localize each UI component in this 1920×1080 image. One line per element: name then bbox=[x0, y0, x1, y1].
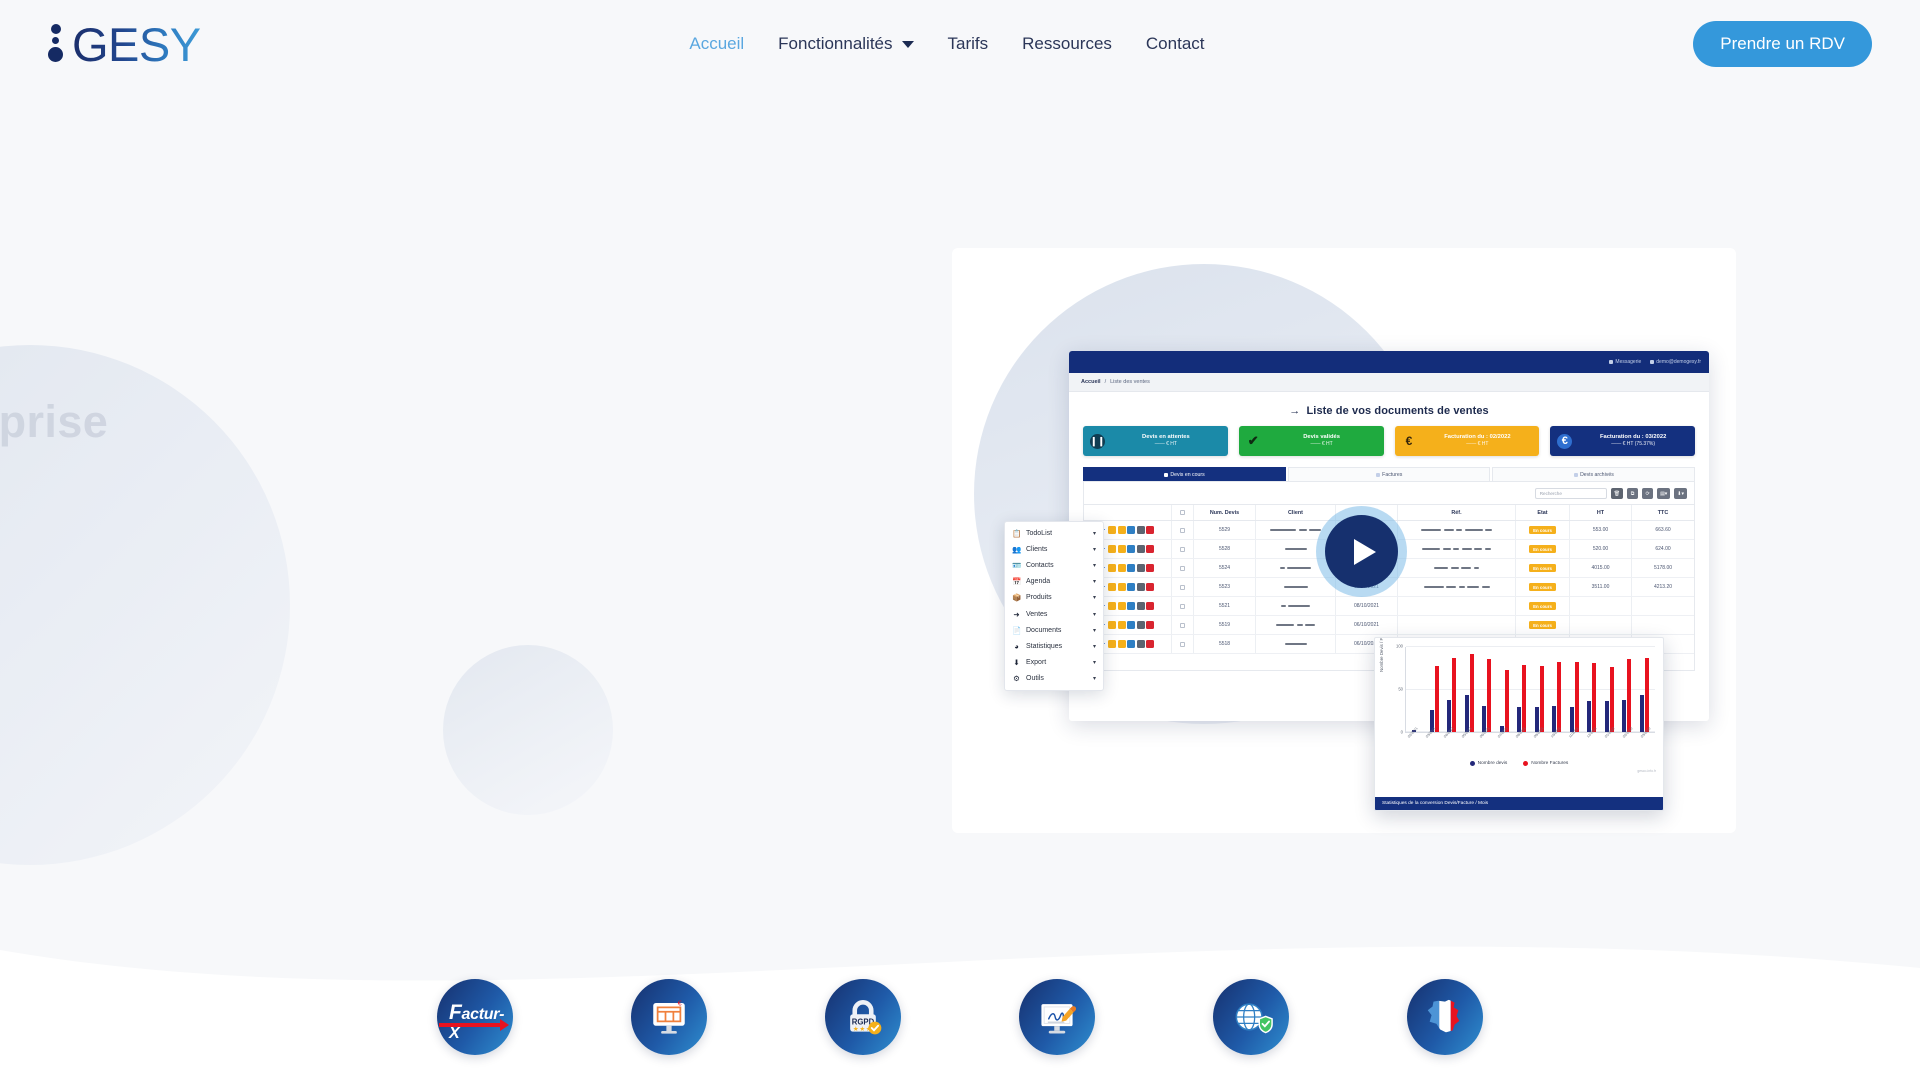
cell-date: 08/10/2021 bbox=[1336, 597, 1398, 615]
cell-num-devis: 5529 bbox=[1194, 521, 1256, 539]
pdf-icon bbox=[1137, 583, 1145, 591]
side-menu-item-label: Contacts bbox=[1026, 562, 1054, 569]
trust-badge-row: Factur-X € RGPD bbox=[0, 962, 1920, 1072]
contact-card-icon: 🪪 bbox=[1012, 561, 1021, 570]
row-checkbox[interactable] bbox=[1180, 604, 1185, 609]
row-checkbox-cell[interactable] bbox=[1172, 578, 1194, 596]
chart-bar bbox=[1470, 654, 1474, 732]
nav-item-fonctionnalites[interactable]: Fonctionnalités bbox=[778, 34, 913, 54]
edit-icon bbox=[1118, 583, 1126, 591]
table-toolbar: Recherche 🗑 ⧉ ⟳ ▤▾ ⬇▾ bbox=[1084, 482, 1694, 504]
table-header-row: Num. Devis Client Réf. Etat HT TTC bbox=[1084, 504, 1694, 521]
cell-ttc: 624.00 bbox=[1632, 540, 1694, 558]
edit-icon bbox=[1118, 526, 1126, 534]
svg-text:€: € bbox=[678, 1001, 682, 1008]
cell-client bbox=[1256, 635, 1336, 653]
cell-ref bbox=[1398, 578, 1516, 596]
column-select bbox=[1172, 505, 1194, 520]
nav-item-accueil[interactable]: Accueil bbox=[689, 34, 744, 54]
badge-factur-x[interactable]: Factur-X bbox=[437, 979, 513, 1055]
nav-item-tarifs-label: Tarifs bbox=[948, 34, 989, 54]
row-checkbox[interactable] bbox=[1180, 623, 1185, 628]
chevron-down-icon: ▾ bbox=[1093, 578, 1096, 585]
cell-ttc: 4213.20 bbox=[1632, 578, 1694, 596]
arrow-right-icon: → bbox=[1289, 405, 1300, 417]
delete-icon bbox=[1146, 564, 1154, 572]
legend-item-devis: Nombre devis bbox=[1470, 761, 1508, 766]
kpi-card-devis-attente[interactable]: ❙❙ Devis en attentes —— € HT bbox=[1083, 426, 1228, 456]
cell-ht bbox=[1570, 616, 1632, 634]
app-side-menu: 📋TodoList▾👥Clients▾🪪Contacts▾📅Agenda▾📦Pr… bbox=[1004, 521, 1104, 691]
video-play-button[interactable] bbox=[1325, 515, 1398, 588]
app-topbar: Messagerie demo@demogesy.fr bbox=[1069, 351, 1709, 373]
pdf-icon bbox=[1137, 621, 1145, 629]
chart-bar-group bbox=[1447, 647, 1456, 732]
chart-bar-group bbox=[1412, 647, 1421, 732]
columns-button[interactable]: ▤▾ bbox=[1657, 488, 1670, 499]
side-menu-item-label: Statistiques bbox=[1026, 643, 1062, 650]
landing-page: ntreprise GESY Accueil Fonctionnalités T… bbox=[0, 0, 1920, 1080]
side-menu-item-label: Export bbox=[1026, 659, 1046, 666]
row-checkbox-cell[interactable] bbox=[1172, 597, 1194, 615]
cell-num-devis: 5523 bbox=[1194, 578, 1256, 596]
chart-bar-group bbox=[1622, 647, 1631, 732]
status-badge: En cours bbox=[1529, 545, 1556, 553]
cell-ref bbox=[1398, 559, 1516, 577]
kpi-title: Facturation du : 02/2022 bbox=[1423, 434, 1533, 441]
side-menu-item-agenda[interactable]: 📅Agenda▾ bbox=[1005, 574, 1103, 590]
row-checkbox-cell[interactable] bbox=[1172, 540, 1194, 558]
chevron-down-icon: ▾ bbox=[1093, 530, 1096, 537]
kpi-value: —— € HT (75.37%) bbox=[1578, 441, 1688, 447]
calendar-icon: 📅 bbox=[1012, 577, 1021, 586]
chart-y-tick: 50 bbox=[1398, 687, 1403, 692]
side-menu-item-export[interactable]: ⬇Export▾ bbox=[1005, 655, 1103, 671]
kpi-value: —— € HT bbox=[1423, 441, 1533, 447]
duplicate-icon bbox=[1127, 583, 1135, 591]
delete-button[interactable]: 🗑 bbox=[1611, 488, 1623, 499]
tab-label: Devis en cours bbox=[1170, 472, 1204, 478]
kpi-card-devis-valides[interactable]: ✔ Devis validés —— € HT bbox=[1239, 426, 1384, 456]
delete-icon bbox=[1146, 640, 1154, 648]
badge-hebergement-securise[interactable] bbox=[1213, 979, 1289, 1055]
cell-ttc bbox=[1632, 616, 1694, 634]
legend-item-factures: Nombre Factures bbox=[1523, 761, 1568, 766]
view-icon bbox=[1108, 583, 1116, 591]
chart-bar bbox=[1435, 666, 1439, 732]
cell-client bbox=[1256, 521, 1336, 539]
chart-y-axis-label: Nombre Devis / Facture bbox=[1379, 637, 1384, 672]
cell-ref bbox=[1398, 597, 1516, 615]
brand-name: GESY bbox=[72, 21, 201, 68]
app-tab-bar: Devis en cours Factures Devis archivés bbox=[1069, 467, 1709, 481]
factur-x-icon: Factur-X bbox=[443, 997, 507, 1037]
box-icon: 📦 bbox=[1012, 593, 1021, 602]
side-menu-item-label: Ventes bbox=[1026, 611, 1047, 618]
side-menu-item-clients[interactable]: 👥Clients▾ bbox=[1005, 541, 1103, 557]
check-icon: ✔ bbox=[1246, 434, 1261, 449]
tools-icon: ⚙ bbox=[1012, 674, 1021, 683]
chart-bar bbox=[1627, 659, 1631, 732]
chart-bar bbox=[1575, 662, 1579, 732]
table-row[interactable]: +552108/10/2021En cours bbox=[1084, 597, 1694, 616]
legend-swatch bbox=[1523, 761, 1528, 766]
chevron-down-icon bbox=[902, 41, 914, 48]
row-checkbox[interactable] bbox=[1180, 547, 1185, 552]
view-icon bbox=[1108, 602, 1116, 610]
side-menu-item-contacts[interactable]: 🪪Contacts▾ bbox=[1005, 557, 1103, 573]
badge-signature-electronique[interactable] bbox=[1019, 979, 1095, 1055]
view-icon bbox=[1108, 640, 1116, 648]
file-icon bbox=[1164, 473, 1168, 477]
status-badge: En cours bbox=[1529, 583, 1556, 591]
cell-etat: En cours bbox=[1516, 559, 1570, 577]
esignature-icon bbox=[1035, 995, 1079, 1039]
cell-etat: En cours bbox=[1516, 578, 1570, 596]
side-menu-item-label: Documents bbox=[1026, 627, 1061, 634]
cell-ttc: 663.60 bbox=[1632, 521, 1694, 539]
side-menu-item-label: Agenda bbox=[1026, 578, 1050, 585]
delete-icon bbox=[1146, 621, 1154, 629]
chart-legend: Nombre devis Nombre Factures bbox=[1375, 761, 1663, 766]
euro-icon: € bbox=[1402, 434, 1417, 449]
pause-icon: ❙❙ bbox=[1090, 434, 1105, 449]
chevron-down-icon: ▾ bbox=[1093, 627, 1096, 634]
chart-bar-group bbox=[1430, 647, 1439, 732]
cell-ht: 3511.00 bbox=[1570, 578, 1632, 596]
breadcrumb-current: Liste des ventes bbox=[1110, 379, 1150, 385]
chart-watermark: gesco-info.fr bbox=[1637, 769, 1656, 773]
kpi-card-facturation-03[interactable]: € Facturation du : 03/2022 —— € HT (75.3… bbox=[1550, 426, 1695, 456]
chart-pie-icon: ◕ bbox=[1012, 642, 1021, 651]
nav-item-fonctionnalites-label: Fonctionnalités bbox=[778, 34, 892, 54]
arrow-right-icon: ➜ bbox=[1012, 610, 1021, 619]
pdf-icon bbox=[1137, 526, 1145, 534]
side-menu-item-label: TodoList bbox=[1026, 530, 1052, 537]
duplicate-icon bbox=[1127, 564, 1135, 572]
file-icon bbox=[1376, 473, 1380, 477]
cell-ref bbox=[1398, 616, 1516, 634]
chart-bar bbox=[1605, 701, 1609, 732]
table-row[interactable]: +552311/10/2021En cours3511.004213.20 bbox=[1084, 578, 1694, 597]
chart-bar bbox=[1557, 662, 1561, 732]
chart-bar-group bbox=[1640, 647, 1649, 732]
tab-factures[interactable]: Factures bbox=[1288, 467, 1491, 481]
badge-rgpd[interactable]: RGPD ★★★ bbox=[825, 979, 901, 1055]
duplicate-icon bbox=[1127, 602, 1135, 610]
chart-bar bbox=[1645, 658, 1649, 732]
cell-ht: 520.00 bbox=[1570, 540, 1632, 558]
edit-icon bbox=[1118, 640, 1126, 648]
column-num-devis[interactable]: Num. Devis bbox=[1194, 505, 1256, 520]
chart-bar bbox=[1570, 707, 1574, 733]
side-menu-item-label: Outils bbox=[1026, 675, 1044, 682]
cell-client bbox=[1256, 559, 1336, 577]
row-checkbox-cell[interactable] bbox=[1172, 521, 1194, 539]
kpi-title: Facturation du : 03/2022 bbox=[1578, 434, 1688, 441]
chart-caption: Statistiques de la conversion Devis/Fact… bbox=[1375, 797, 1663, 810]
column-ref[interactable]: Réf. bbox=[1398, 505, 1516, 520]
chart-bar bbox=[1622, 700, 1626, 732]
nav-item-contact[interactable]: Contact bbox=[1146, 34, 1205, 54]
kpi-title: Devis validés bbox=[1267, 434, 1377, 441]
chart-bar-group bbox=[1517, 647, 1526, 732]
decorative-circle-large bbox=[0, 345, 290, 865]
row-checkbox[interactable] bbox=[1180, 528, 1185, 533]
invoice-monitor-icon: € bbox=[648, 996, 690, 1038]
tab-devis-en-cours[interactable]: Devis en cours bbox=[1083, 467, 1286, 481]
side-menu-item-documents[interactable]: 📄Documents▾ bbox=[1005, 622, 1103, 638]
chart-bar bbox=[1587, 701, 1591, 732]
edit-icon bbox=[1118, 545, 1126, 553]
cell-num-devis: 5521 bbox=[1194, 597, 1256, 615]
row-checkbox[interactable] bbox=[1180, 585, 1185, 590]
decorative-circle-small bbox=[443, 645, 613, 815]
main-navigation: Accueil Fonctionnalités Tarifs Ressource… bbox=[689, 34, 1204, 54]
euro-icon: € bbox=[1557, 434, 1572, 449]
france-map-icon bbox=[1422, 994, 1468, 1040]
column-actions bbox=[1084, 505, 1172, 520]
chart-plot-area: Nombre Devis / Facture 050100 02/202103/… bbox=[1375, 638, 1663, 777]
kpi-card-facturation-02[interactable]: € Facturation du : 02/2022 —— € HT bbox=[1395, 426, 1540, 456]
statistics-chart-card: Nombre Devis / Facture 050100 02/202103/… bbox=[1374, 637, 1664, 811]
row-checkbox[interactable] bbox=[1180, 642, 1185, 647]
chart-bar-group bbox=[1500, 647, 1509, 732]
svg-text:★: ★ bbox=[853, 1026, 859, 1033]
nav-item-ressources-label: Ressources bbox=[1022, 34, 1112, 54]
row-checkbox-cell[interactable] bbox=[1172, 559, 1194, 577]
table-row[interactable]: +551906/10/2021En cours bbox=[1084, 616, 1694, 635]
cell-client bbox=[1256, 578, 1336, 596]
app-page-title-text: Liste de vos documents de ventes bbox=[1306, 405, 1488, 417]
prendre-rdv-button[interactable]: Prendre un RDV bbox=[1693, 21, 1872, 67]
delete-icon bbox=[1146, 526, 1154, 534]
chevron-down-icon: ▾ bbox=[1093, 546, 1096, 553]
legend-swatch bbox=[1470, 761, 1475, 766]
column-ht[interactable]: HT bbox=[1570, 505, 1632, 520]
cell-etat: En cours bbox=[1516, 521, 1570, 539]
column-client[interactable]: Client bbox=[1256, 505, 1336, 520]
side-menu-item-todolist[interactable]: 📋TodoList▾ bbox=[1005, 525, 1103, 541]
side-menu-item-outils[interactable]: ⚙Outils▾ bbox=[1005, 671, 1103, 687]
nav-item-accueil-label: Accueil bbox=[689, 34, 744, 54]
clipboard-icon: 📋 bbox=[1012, 529, 1021, 538]
status-badge: En cours bbox=[1529, 621, 1556, 629]
app-messagerie-item[interactable]: Messagerie bbox=[1609, 359, 1641, 365]
svg-text:★: ★ bbox=[859, 1026, 865, 1033]
gesy-dots-logo-icon bbox=[48, 24, 63, 64]
edit-icon bbox=[1118, 621, 1126, 629]
pdf-icon bbox=[1137, 640, 1145, 648]
nav-item-tarifs[interactable]: Tarifs bbox=[948, 34, 989, 54]
copy-button[interactable]: ⧉ bbox=[1627, 488, 1638, 499]
cell-ref bbox=[1398, 521, 1516, 539]
kpi-value: —— € HT bbox=[1267, 441, 1377, 447]
cell-num-devis: 5524 bbox=[1194, 559, 1256, 577]
file-icon: 📄 bbox=[1012, 626, 1021, 635]
kpi-title: Devis en attentes bbox=[1111, 434, 1221, 441]
chart-bar-group bbox=[1465, 647, 1474, 732]
app-page-title: → Liste de vos documents de ventes bbox=[1069, 392, 1709, 426]
chevron-down-icon: ▾ bbox=[1093, 611, 1096, 618]
status-badge: En cours bbox=[1529, 526, 1556, 534]
site-header: GESY Accueil Fonctionnalités Tarifs Ress… bbox=[0, 0, 1920, 88]
side-menu-item-label: Produits bbox=[1026, 594, 1052, 601]
row-checkbox-cell[interactable] bbox=[1172, 616, 1194, 634]
chart-bar-group bbox=[1605, 647, 1614, 732]
download-icon: ⬇ bbox=[1012, 658, 1021, 667]
chart-bar bbox=[1522, 665, 1526, 732]
pdf-icon bbox=[1137, 545, 1145, 553]
refresh-button[interactable]: ⟳ bbox=[1642, 488, 1653, 499]
delete-icon bbox=[1146, 545, 1154, 553]
status-badge: En cours bbox=[1529, 602, 1556, 610]
chart-y-tick: 100 bbox=[1396, 644, 1403, 649]
cell-num-devis: 5518 bbox=[1194, 635, 1256, 653]
cell-ttc bbox=[1632, 597, 1694, 615]
badge-made-in-france[interactable] bbox=[1407, 979, 1483, 1055]
chart-bar bbox=[1535, 707, 1539, 733]
chart-bars bbox=[1406, 647, 1655, 732]
breadcrumb-separator: / bbox=[1105, 379, 1107, 385]
nav-item-ressources[interactable]: Ressources bbox=[1022, 34, 1112, 54]
column-ttc[interactable]: TTC bbox=[1632, 505, 1694, 520]
edit-icon bbox=[1118, 564, 1126, 572]
app-breadcrumb: Accueil / Liste des ventes bbox=[1069, 373, 1709, 392]
duplicate-icon bbox=[1127, 621, 1135, 629]
tab-label: Factures bbox=[1382, 472, 1402, 478]
duplicate-icon bbox=[1127, 640, 1135, 648]
cell-client bbox=[1256, 540, 1336, 558]
tab-devis-archives[interactable]: Devis archivés bbox=[1492, 467, 1695, 481]
chevron-down-icon: ▾ bbox=[1093, 675, 1096, 682]
side-menu-item-label: Clients bbox=[1026, 546, 1047, 553]
chevron-down-icon: ▾ bbox=[1093, 562, 1096, 569]
chevron-down-icon: ▾ bbox=[1093, 659, 1096, 666]
delete-icon bbox=[1146, 583, 1154, 591]
chart-bar-group bbox=[1570, 647, 1579, 732]
cell-client bbox=[1256, 597, 1336, 615]
tab-label: Devis archivés bbox=[1580, 472, 1614, 478]
export-button[interactable]: ⬇▾ bbox=[1674, 488, 1687, 499]
chart-bar bbox=[1640, 695, 1644, 732]
user-icon bbox=[1650, 360, 1654, 364]
envelope-icon bbox=[1609, 360, 1613, 364]
chart-bar-group bbox=[1482, 647, 1491, 732]
cell-date: 06/10/2021 bbox=[1336, 616, 1398, 634]
chart-bar-group bbox=[1552, 647, 1561, 732]
nav-item-contact-label: Contact bbox=[1146, 34, 1205, 54]
chart-plot: 050100 bbox=[1405, 647, 1655, 733]
chart-y-tick: 0 bbox=[1401, 730, 1403, 735]
view-icon bbox=[1108, 545, 1116, 553]
view-icon bbox=[1108, 564, 1116, 572]
badge-facturation-electronique[interactable]: € bbox=[631, 979, 707, 1055]
chart-bar-group bbox=[1535, 647, 1544, 732]
chart-bar-group bbox=[1587, 647, 1596, 732]
rgpd-lock-icon: RGPD ★★★ bbox=[841, 995, 885, 1039]
view-icon bbox=[1108, 526, 1116, 534]
cell-ttc: 5178.00 bbox=[1632, 559, 1694, 577]
side-menu-item-statistiques[interactable]: ◕Statistiques▾ bbox=[1005, 638, 1103, 654]
duplicate-icon bbox=[1127, 526, 1135, 534]
status-badge: En cours bbox=[1529, 564, 1556, 572]
duplicate-icon bbox=[1127, 545, 1135, 553]
chart-bar bbox=[1610, 667, 1614, 732]
view-icon bbox=[1108, 621, 1116, 629]
play-icon bbox=[1354, 539, 1376, 565]
cell-etat: En cours bbox=[1516, 597, 1570, 615]
cell-ref bbox=[1398, 540, 1516, 558]
chart-bar bbox=[1487, 659, 1491, 732]
brand-logo[interactable]: GESY bbox=[48, 21, 201, 68]
cell-num-devis: 5528 bbox=[1194, 540, 1256, 558]
row-checkbox-cell[interactable] bbox=[1172, 635, 1194, 653]
chart-bar bbox=[1592, 663, 1596, 732]
cell-client bbox=[1256, 616, 1336, 634]
breadcrumb-home[interactable]: Accueil bbox=[1081, 379, 1101, 385]
row-checkbox[interactable] bbox=[1180, 566, 1185, 571]
cell-num-devis: 5519 bbox=[1194, 616, 1256, 634]
side-menu-item-produits[interactable]: 📦Produits▾ bbox=[1005, 590, 1103, 606]
cell-ht bbox=[1570, 597, 1632, 615]
pdf-icon bbox=[1137, 564, 1145, 572]
app-account-item[interactable]: demo@demogesy.fr bbox=[1650, 359, 1701, 365]
search-input[interactable]: Recherche bbox=[1535, 488, 1607, 499]
secure-globe-icon bbox=[1229, 995, 1273, 1039]
chart-bar bbox=[1505, 670, 1509, 732]
cell-etat: En cours bbox=[1516, 540, 1570, 558]
column-etat[interactable]: Etat bbox=[1516, 505, 1570, 520]
kpi-card-row: ❙❙ Devis en attentes —— € HT ✔ Devis val… bbox=[1069, 426, 1709, 467]
chevron-down-icon: ▾ bbox=[1093, 643, 1096, 650]
users-icon: 👥 bbox=[1012, 545, 1021, 554]
cell-ht: 553.00 bbox=[1570, 521, 1632, 539]
pdf-icon bbox=[1137, 602, 1145, 610]
cell-ht: 4015.00 bbox=[1570, 559, 1632, 577]
chevron-down-icon: ▾ bbox=[1093, 594, 1096, 601]
hero-ghost-text: ntreprise bbox=[0, 396, 108, 448]
kpi-value: —— € HT bbox=[1111, 441, 1221, 447]
file-icon bbox=[1574, 473, 1578, 477]
edit-icon bbox=[1118, 602, 1126, 610]
select-all-checkbox[interactable] bbox=[1180, 510, 1185, 515]
cell-etat: En cours bbox=[1516, 616, 1570, 634]
chart-bar bbox=[1452, 658, 1456, 732]
side-menu-item-ventes[interactable]: ➜Ventes▾ bbox=[1005, 606, 1103, 622]
chart-bar bbox=[1540, 666, 1544, 732]
delete-icon bbox=[1146, 602, 1154, 610]
